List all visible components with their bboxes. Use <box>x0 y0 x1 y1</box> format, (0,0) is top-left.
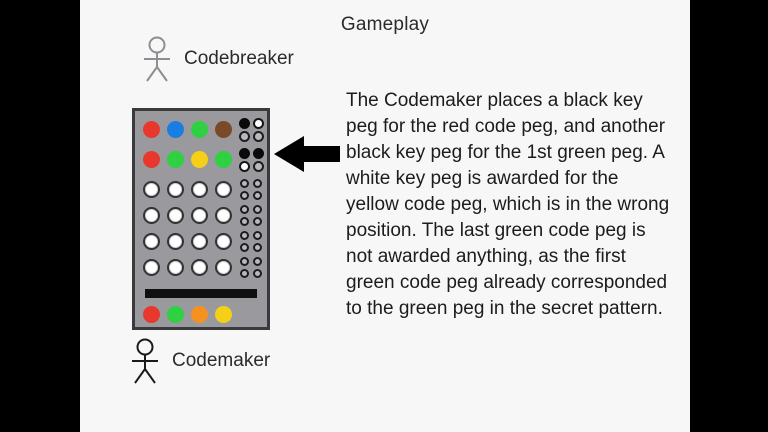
code-peg[interactable] <box>191 151 208 168</box>
code-peg[interactable] <box>143 207 160 224</box>
code-peg[interactable] <box>191 207 208 224</box>
code-peg[interactable] <box>215 233 232 250</box>
key-peg[interactable] <box>240 205 249 214</box>
mastermind-board[interactable] <box>132 108 270 330</box>
code-peg[interactable] <box>143 151 160 168</box>
code-peg[interactable] <box>167 233 184 250</box>
key-peg[interactable] <box>239 131 250 142</box>
key-peg[interactable] <box>253 269 262 278</box>
key-peg[interactable] <box>239 161 250 172</box>
key-peg[interactable] <box>253 131 264 142</box>
key-peg-cluster[interactable] <box>239 178 267 202</box>
key-peg[interactable] <box>240 231 249 240</box>
code-peg[interactable] <box>143 306 160 323</box>
page-title: Gameplay <box>80 14 690 36</box>
code-peg[interactable] <box>167 207 184 224</box>
description-text: The Codemaker places a black key peg for… <box>346 88 670 322</box>
key-peg[interactable] <box>253 231 262 240</box>
code-peg[interactable] <box>191 259 208 276</box>
guess-row[interactable] <box>135 145 273 175</box>
key-peg-cluster[interactable] <box>239 204 267 228</box>
key-peg[interactable] <box>253 161 264 172</box>
code-peg[interactable] <box>143 121 160 138</box>
key-peg[interactable] <box>253 243 262 252</box>
key-peg[interactable] <box>239 118 250 129</box>
secret-code-row[interactable] <box>135 303 273 329</box>
actor-codemaker-label: Codemaker <box>172 350 270 372</box>
code-peg[interactable] <box>143 259 160 276</box>
code-peg[interactable] <box>143 181 160 198</box>
guess-row[interactable] <box>135 253 273 283</box>
key-peg[interactable] <box>239 148 250 159</box>
code-peg[interactable] <box>191 306 208 323</box>
actor-codemaker: Codemaker <box>128 338 270 384</box>
key-peg[interactable] <box>240 243 249 252</box>
code-peg[interactable] <box>167 259 184 276</box>
secret-cover-bar <box>145 289 257 298</box>
key-peg[interactable] <box>240 217 249 226</box>
actor-codebreaker: Codebreaker <box>140 36 294 82</box>
key-peg[interactable] <box>253 217 262 226</box>
code-peg[interactable] <box>215 259 232 276</box>
code-peg[interactable] <box>215 207 232 224</box>
key-peg[interactable] <box>240 179 249 188</box>
code-peg[interactable] <box>215 151 232 168</box>
code-peg[interactable] <box>167 121 184 138</box>
guess-row[interactable] <box>135 115 273 145</box>
key-peg-cluster[interactable] <box>239 256 267 280</box>
code-peg[interactable] <box>191 181 208 198</box>
slide-content: Gameplay Codebreaker <box>80 0 690 432</box>
code-peg[interactable] <box>215 121 232 138</box>
left-arrow-icon <box>274 134 340 179</box>
key-peg[interactable] <box>240 257 249 266</box>
code-peg[interactable] <box>191 233 208 250</box>
key-peg[interactable] <box>253 148 264 159</box>
video-frame: Gameplay Codebreaker <box>0 0 768 432</box>
key-peg[interactable] <box>240 269 249 278</box>
code-peg[interactable] <box>191 121 208 138</box>
key-peg-cluster[interactable] <box>239 118 267 142</box>
code-peg[interactable] <box>167 181 184 198</box>
key-peg[interactable] <box>240 191 249 200</box>
code-peg[interactable] <box>143 233 160 250</box>
code-peg[interactable] <box>167 151 184 168</box>
key-peg[interactable] <box>253 179 262 188</box>
stick-figure-icon <box>128 338 162 384</box>
code-peg[interactable] <box>167 306 184 323</box>
code-peg[interactable] <box>215 181 232 198</box>
code-peg[interactable] <box>215 306 232 323</box>
key-peg[interactable] <box>253 205 262 214</box>
key-peg[interactable] <box>253 118 264 129</box>
actor-codebreaker-label: Codebreaker <box>184 48 294 70</box>
key-peg[interactable] <box>253 257 262 266</box>
key-peg[interactable] <box>253 191 262 200</box>
key-peg-cluster[interactable] <box>239 230 267 254</box>
key-peg-cluster[interactable] <box>239 148 267 172</box>
stick-figure-icon <box>140 36 174 82</box>
